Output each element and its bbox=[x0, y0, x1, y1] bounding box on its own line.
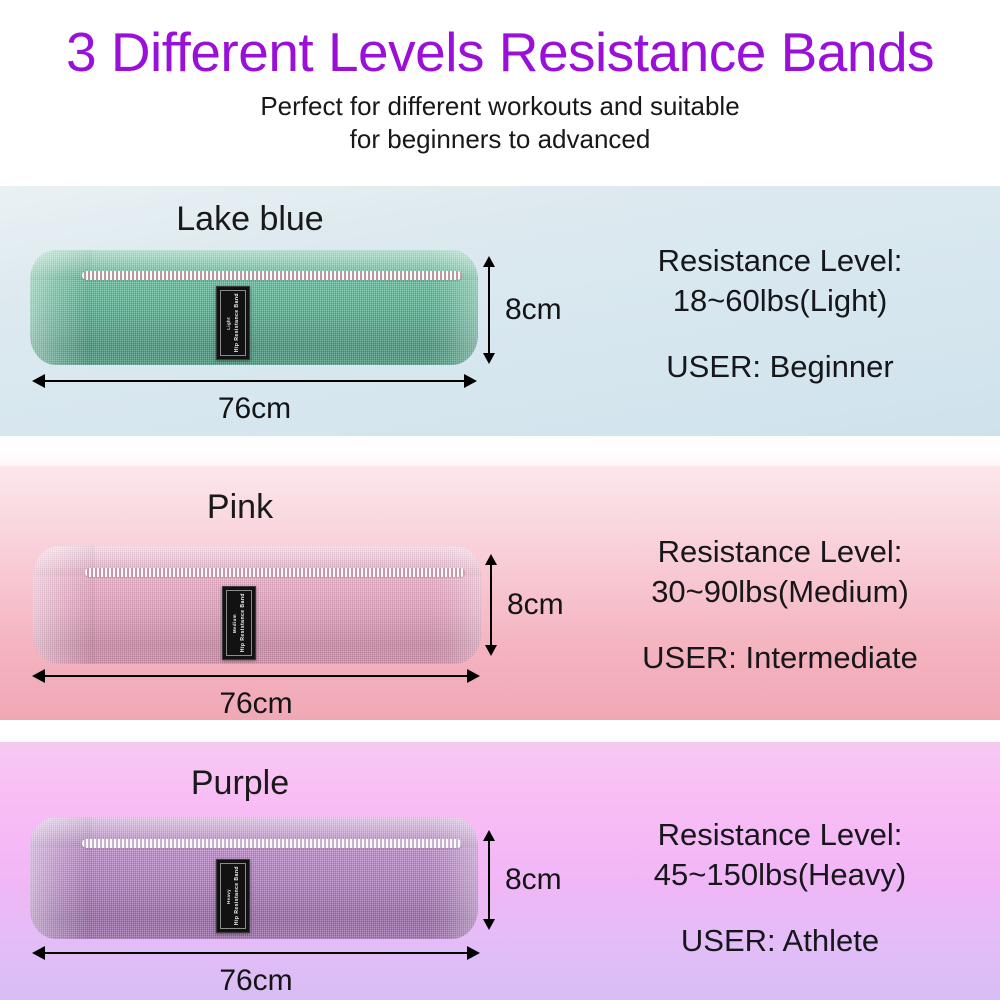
tag-product-text: Hip Resistance Band bbox=[234, 866, 241, 925]
width-label-lake-blue: 76cm bbox=[32, 392, 477, 426]
user-label-lake-blue: USER: Beginner bbox=[658, 347, 903, 387]
band-seam-icon bbox=[82, 839, 462, 848]
band-visual-column-purple: Purple Heavy Hip Resistance Band bbox=[0, 742, 560, 1000]
band-tag-pink: Medium Hip Resistance Band bbox=[222, 586, 256, 660]
user-label-purple: USER: Athlete bbox=[654, 921, 906, 961]
height-label-lake-blue: 8cm bbox=[505, 293, 562, 327]
panel-divider-1 bbox=[0, 436, 1000, 466]
spec-block-purple: Resistance Level: 45~150lbs(Heavy) USER:… bbox=[654, 815, 906, 961]
band-tag-purple: Heavy Hip Resistance Band bbox=[216, 859, 250, 933]
band-panel-lake-blue: Lake blue Light Hip Resistance Band bbox=[0, 186, 1000, 436]
height-dimension-pink: 8cm bbox=[485, 554, 497, 656]
color-name-pink: Pink bbox=[0, 488, 490, 527]
subtitle-line-2: for beginners to advanced bbox=[0, 123, 1000, 156]
resistance-band-purple: Heavy Hip Resistance Band bbox=[30, 817, 478, 939]
height-dimension-purple: 8cm bbox=[483, 830, 495, 930]
spec-column-purple: Resistance Level: 45~150lbs(Heavy) USER:… bbox=[560, 742, 1000, 1000]
tag-product-text: Hip Resistance Band bbox=[240, 593, 247, 652]
color-name-purple: Purple bbox=[0, 764, 490, 803]
band-seam-icon bbox=[82, 271, 462, 280]
color-name-lake-blue: Lake blue bbox=[0, 200, 500, 239]
resistance-value-lake-blue: 18~60lbs(Light) bbox=[658, 281, 903, 321]
subtitle-line-1: Perfect for different workouts and suita… bbox=[0, 90, 1000, 123]
height-label-purple: 8cm bbox=[505, 863, 562, 897]
band-panel-purple: Purple Heavy Hip Resistance Band bbox=[0, 742, 1000, 1000]
width-label-purple: 76cm bbox=[32, 964, 480, 998]
width-dimension-purple: 76cm bbox=[32, 946, 480, 960]
spec-column-lake-blue: Resistance Level: 18~60lbs(Light) USER: … bbox=[560, 186, 1000, 436]
tag-level-text: Medium bbox=[231, 614, 238, 633]
band-visual-column-pink: Pink Medium Hip Resistance Band bbox=[0, 466, 560, 720]
resistance-label-pink: Resistance Level: bbox=[642, 532, 918, 572]
resistance-value-purple: 45~150lbs(Heavy) bbox=[654, 855, 906, 895]
resistance-label-lake-blue: Resistance Level: bbox=[658, 241, 903, 281]
user-label-pink: USER: Intermediate bbox=[642, 638, 918, 678]
width-dimension-pink: 76cm bbox=[32, 669, 480, 683]
width-dimension-lake-blue: 76cm bbox=[32, 374, 477, 388]
band-panel-pink: Pink Medium Hip Resistance Band bbox=[0, 466, 1000, 720]
band-visual-column-lake-blue: Lake blue Light Hip Resistance Band bbox=[0, 186, 560, 436]
width-label-pink: 76cm bbox=[32, 687, 480, 721]
header: 3 Different Levels Resistance Bands Perf… bbox=[0, 0, 1000, 186]
resistance-band-lake-blue: Light Hip Resistance Band bbox=[30, 250, 478, 365]
band-seam-icon bbox=[85, 568, 465, 577]
subtitle: Perfect for different workouts and suita… bbox=[0, 90, 1000, 156]
panel-divider-2 bbox=[0, 720, 1000, 742]
height-label-pink: 8cm bbox=[507, 588, 564, 622]
page-title: 3 Different Levels Resistance Bands bbox=[0, 22, 1000, 82]
spec-column-pink: Resistance Level: 30~90lbs(Medium) USER:… bbox=[560, 466, 1000, 720]
tag-level-text: Light bbox=[225, 317, 232, 330]
spec-block-pink: Resistance Level: 30~90lbs(Medium) USER:… bbox=[642, 532, 918, 678]
resistance-value-pink: 30~90lbs(Medium) bbox=[642, 572, 918, 612]
resistance-label-purple: Resistance Level: bbox=[654, 815, 906, 855]
resistance-band-pink: Medium Hip Resistance Band bbox=[33, 546, 481, 664]
band-tag-lake-blue: Light Hip Resistance Band bbox=[216, 286, 250, 360]
spec-block-lake-blue: Resistance Level: 18~60lbs(Light) USER: … bbox=[658, 241, 903, 387]
tag-product-text: Hip Resistance Band bbox=[234, 293, 241, 352]
height-dimension-lake-blue: 8cm bbox=[483, 256, 495, 364]
tag-level-text: Heavy bbox=[225, 889, 232, 904]
